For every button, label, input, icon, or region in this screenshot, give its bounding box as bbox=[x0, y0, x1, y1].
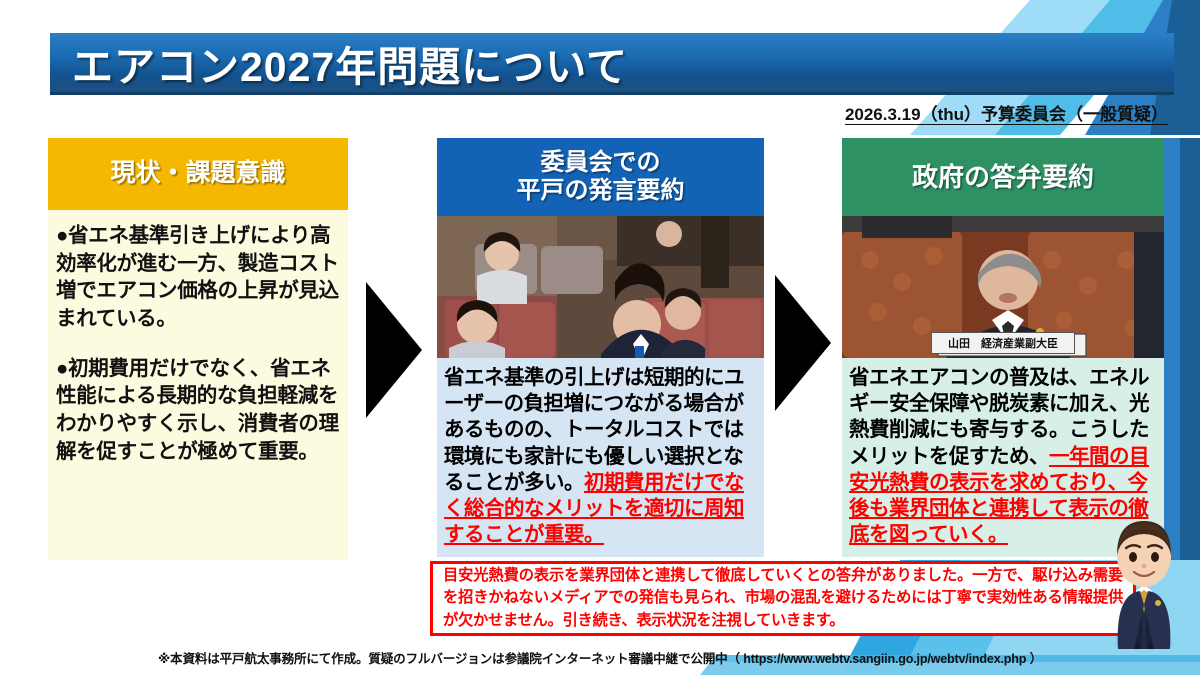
panel-statement-title-line1: 委員会での bbox=[541, 149, 661, 177]
panel-government-answer: 政府の答弁要約 bbox=[842, 138, 1164, 557]
footer-note: ※本資料は平戸航太事務所にて作成。質疑のフルバージョンは参議院インターネット審議… bbox=[0, 648, 1200, 667]
statement-text: 省エネ基準の引上げは短期的にユーザーの負担増につながる場合があるものの、トータル… bbox=[444, 365, 758, 549]
avatar-illustration bbox=[1096, 499, 1192, 649]
comment-callout-text: 目安光熱費の表示を業界団体と連携して徹底していくとの答弁がありました。一方で、駆… bbox=[443, 565, 1123, 632]
panel-current-issues: 現状・課題意識 ●省エネ基準引き上げにより高効率化が進む一方、製造コスト増でエア… bbox=[48, 138, 348, 560]
session-date-label: 2026.3.19（thu）予算委員会（一般質疑） bbox=[845, 100, 1168, 125]
current-issue-paragraph-1: ●省エネ基準引き上げにより高効率化が進む一方、製造コスト増でエアコン価格の上昇が… bbox=[56, 222, 342, 333]
slide-title-bar: エアコン2027年問題について bbox=[50, 33, 1174, 95]
flow-arrow-2-icon bbox=[775, 275, 831, 411]
slide-canvas: エアコン2027年問題について 2026.3.19（thu）予算委員会（一般質疑… bbox=[0, 0, 1200, 675]
panel-current-issues-body: ●省エネ基準引き上げにより高効率化が進む一方、製造コスト増でエアコン価格の上昇が… bbox=[48, 210, 348, 560]
panel-statement-summary: 委員会での 平戸の発言要約 bbox=[437, 138, 764, 557]
committee-photo-speaker bbox=[437, 216, 764, 358]
panel-government-answer-header: 政府の答弁要約 bbox=[842, 138, 1164, 216]
panel-government-answer-title: 政府の答弁要約 bbox=[912, 162, 1094, 193]
current-issue-paragraph-2: ●初期費用だけでなく、省エネ性能による長期的な負担軽減をわかりやすく示し、消費者… bbox=[56, 355, 342, 466]
panel-statement-title-line2: 平戸の発言要約 bbox=[517, 177, 685, 205]
panel-current-issues-title: 現状・課題意識 bbox=[110, 159, 285, 189]
panel-statement-summary-header: 委員会での 平戸の発言要約 bbox=[437, 138, 764, 216]
panel-statement-summary-body: 省エネ基準の引上げは短期的にユーザーの負担増につながる場合があるものの、トータル… bbox=[437, 358, 764, 557]
flow-arrow-1-icon bbox=[366, 282, 422, 418]
page-title: エアコン2027年問題について bbox=[72, 33, 628, 93]
panel-current-issues-header: 現状・課題意識 bbox=[48, 138, 348, 210]
committee-photo-minister: 山田 経済産業副大臣 bbox=[842, 216, 1164, 358]
photo-caption-minister: 山田 経済産業副大臣 bbox=[931, 332, 1075, 354]
comment-callout-box: 目安光熱費の表示を業界団体と連携して徹底していくとの答弁がありました。一方で、駆… bbox=[430, 561, 1136, 636]
